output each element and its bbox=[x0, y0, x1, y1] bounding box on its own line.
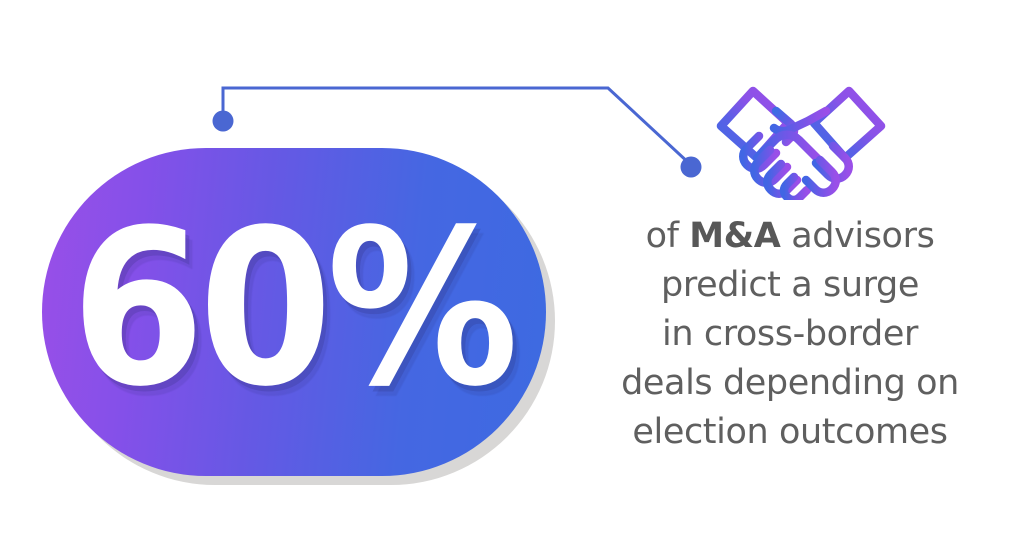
handshake-right-finger-2 bbox=[806, 160, 836, 193]
icon-anchor-dot bbox=[681, 157, 702, 178]
caption-line-2: predict a surge bbox=[566, 261, 1014, 310]
stat-badge-container: 60% bbox=[42, 148, 546, 476]
handshake-icon bbox=[712, 78, 890, 200]
caption-block: of M&A advisors predict a surge in cross… bbox=[566, 212, 1014, 457]
caption-line-1-suffix: advisors bbox=[781, 216, 935, 256]
stat-value: 60% bbox=[71, 202, 517, 417]
handshake-right-sleeve bbox=[814, 91, 881, 158]
caption-line-3: in cross-border bbox=[566, 310, 1014, 359]
handshake-left-sleeve bbox=[721, 91, 788, 158]
stat-badge: 60% bbox=[42, 148, 546, 476]
badge-anchor-dot bbox=[213, 111, 234, 132]
caption-emphasis-ma: M&A bbox=[689, 216, 780, 256]
caption-line-1-prefix: of bbox=[646, 216, 690, 256]
caption-line-4: deals depending on bbox=[566, 359, 1014, 408]
caption-line-1: of M&A advisors bbox=[566, 212, 1014, 261]
caption-line-5: election outcomes bbox=[566, 408, 1014, 457]
infographic-root: 60% bbox=[0, 0, 1024, 538]
